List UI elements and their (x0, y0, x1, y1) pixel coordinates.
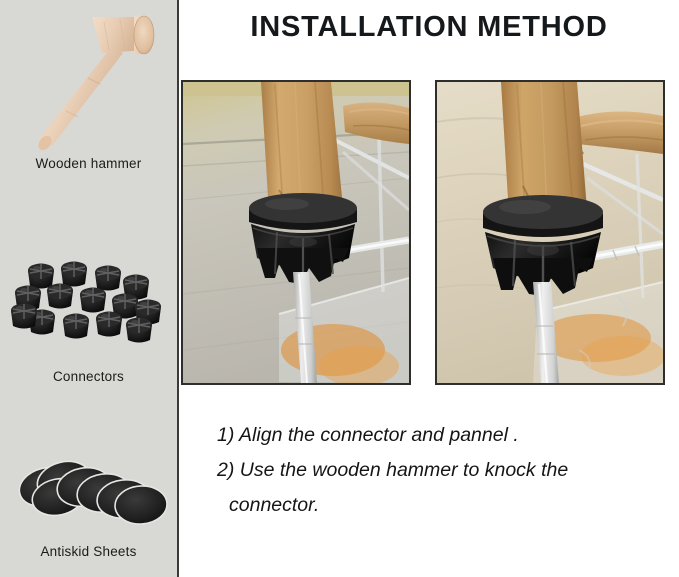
page-title: INSTALLATION METHOD (179, 11, 679, 44)
instruction-steps: 1) Align the connector and pannel . 2) U… (217, 418, 667, 523)
wooden-hammer-figure (0, 6, 177, 156)
black-felt-disc-stack-icon (8, 443, 170, 535)
instruction-step-2-continued: connector. (217, 488, 667, 523)
part-item-wooden-hammer: Wooden hammer (0, 6, 177, 171)
parts-sidebar: Wooden hammer (0, 0, 177, 577)
part-label-antiskid-sheets: Antiskid Sheets (0, 544, 177, 559)
antiskid-sheets-figure (0, 443, 177, 538)
connector-knocked-photo (435, 80, 665, 385)
part-item-antiskid-sheets: Antiskid Sheets (0, 443, 177, 559)
step-2-text: Use the wooden hammer to knock the (240, 459, 568, 481)
black-connector-cluster-icon (8, 255, 170, 363)
installation-method-page: Wooden hammer (0, 0, 679, 577)
connectors-figure (0, 255, 177, 365)
instruction-step-2: 2) Use the wooden hammer to knock the (217, 453, 667, 488)
main-content: INSTALLATION METHOD (179, 0, 679, 577)
photo-1-illustration (183, 82, 409, 383)
step-1-text: Align the connector and pannel . (239, 424, 519, 446)
photo-2-illustration (437, 82, 663, 383)
step-2-number: 2) (217, 459, 234, 481)
part-label-connectors: Connectors (0, 369, 177, 384)
connector-aligned-photo (181, 80, 411, 385)
part-item-connectors: Connectors (0, 255, 177, 384)
instruction-step-1: 1) Align the connector and pannel . (217, 418, 667, 453)
wooden-mallet-icon (16, 6, 166, 156)
step-1-number: 1) (217, 424, 234, 446)
part-label-wooden-hammer: Wooden hammer (0, 156, 177, 171)
step-2-continued-text: connector. (229, 494, 319, 516)
